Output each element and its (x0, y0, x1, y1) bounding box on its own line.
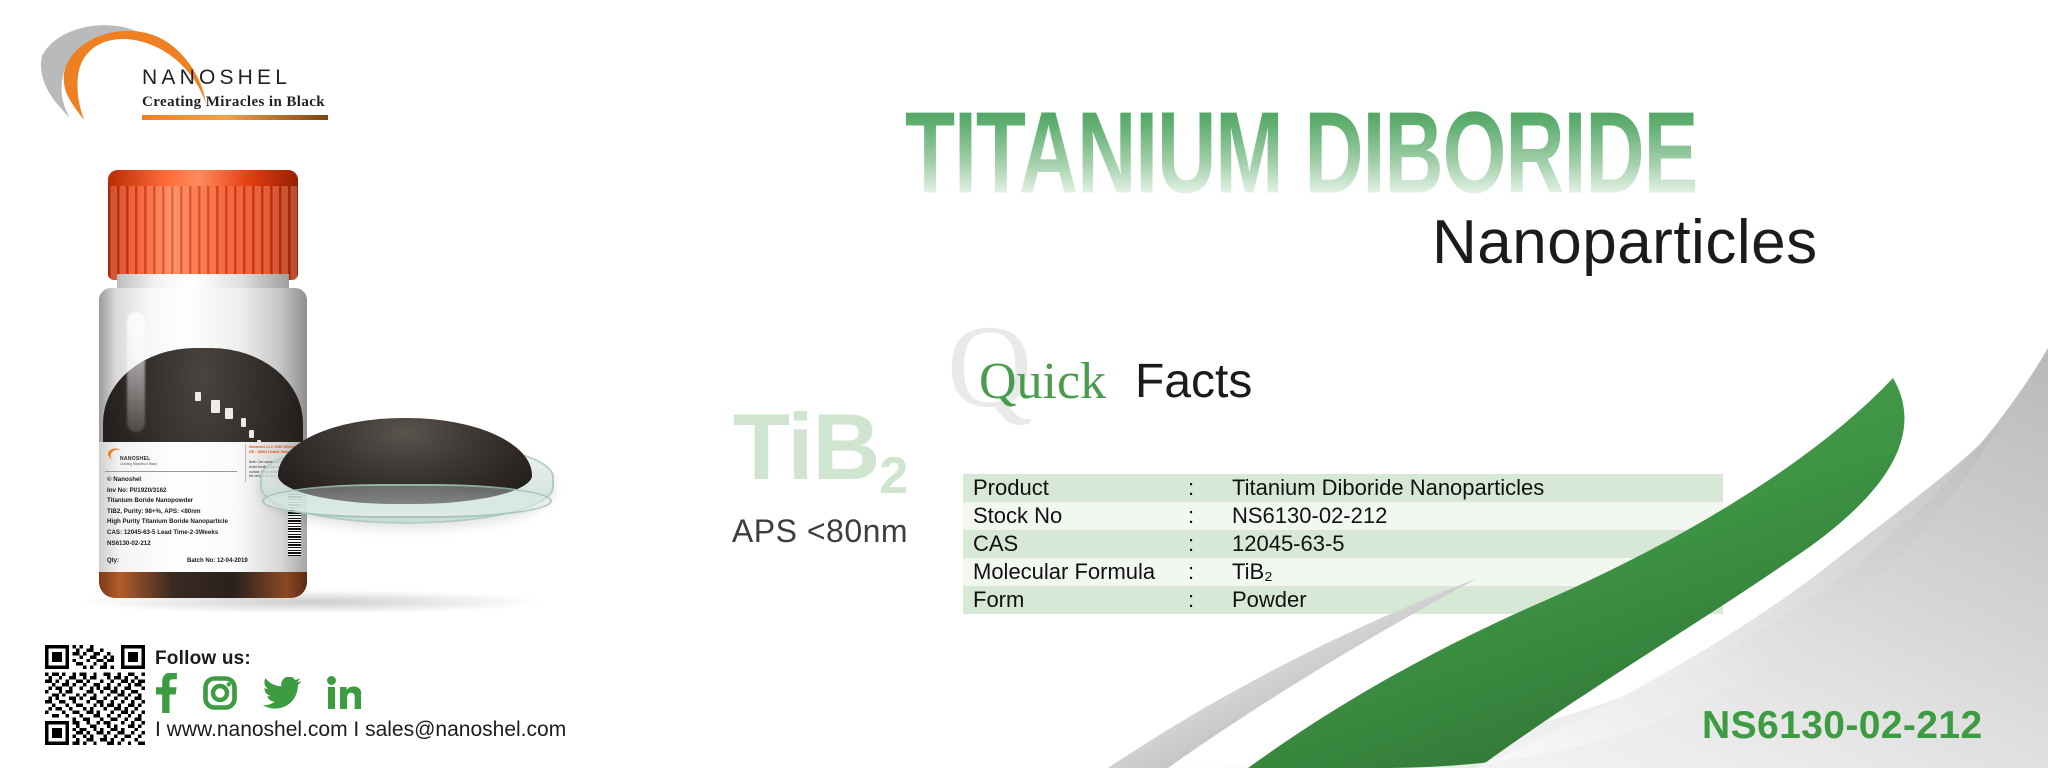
social-links (155, 672, 775, 714)
contact-line: I www.nanoshel.com I sales@nanoshel.com (155, 718, 775, 742)
label-text-lines: © Nanoshel Inv No: PI/1920/3162 Titanium… (107, 475, 257, 549)
label-line: Inv No: PI/1920/3162 (107, 486, 257, 497)
page-subtitle: Nanoparticles (1432, 212, 1818, 274)
bottle-base (99, 572, 307, 598)
logo-tagline: Creating Miracles in Black (142, 94, 325, 111)
nanoshel-logo[interactable]: NANOSHEL Creating Miracles in Black (34, 18, 309, 128)
label-line: TiB2, Purity: 98+%, APS: <80nm (107, 507, 257, 518)
label-logo-tagline: Creating Miracles in Black (120, 462, 157, 466)
label-line: Titanium Boride Nanopowder (107, 496, 257, 507)
formula-main: TiB (733, 394, 880, 499)
label-line: High Purity Titanium Boride Nanoparticle (107, 517, 257, 528)
label-swoosh-icon (107, 447, 121, 461)
page-title: TITANIUM DIBORIDE (905, 96, 1697, 212)
facebook-icon[interactable] (155, 673, 177, 713)
instagram-icon[interactable] (203, 676, 237, 710)
bottle-cap-top (108, 170, 298, 186)
stock-code-badge: NS6130-02-212 (1702, 706, 1983, 745)
banner-canvas: NANOSHEL Creating Miracles in Black (0, 0, 2048, 768)
petri-dish (260, 410, 550, 525)
bottle-cap (108, 170, 298, 280)
logo-wordmark: NANOSHEL (142, 66, 291, 90)
logo-underline (142, 115, 328, 120)
product-bottle: NANOSHEL Creating Miracles in Black Nano… (93, 170, 313, 600)
qr-code[interactable] (45, 645, 145, 745)
label-qty: Qty: (107, 558, 119, 564)
label-batch: Batch No: 12-04-2019 (187, 558, 248, 564)
aps-text: APS <80nm (690, 513, 950, 550)
formula-subscript: 2 (879, 447, 907, 505)
bottle-label-logo: NANOSHEL Creating Miracles in Black (107, 447, 163, 469)
footer: Follow us: I www.nanoshel.com I sales@na… (155, 648, 775, 742)
follow-us-label: Follow us: (155, 648, 775, 670)
label-line: NS6130-02-212 (107, 539, 257, 550)
twitter-icon[interactable] (263, 677, 301, 709)
petri-dish-rim (262, 484, 552, 518)
linkedin-icon[interactable] (327, 676, 361, 710)
product-photo: NANOSHEL Creating Miracles in Black Nano… (45, 160, 665, 660)
formula-block: TiB2 APS <80nm (690, 400, 950, 550)
label-line: CAS: 12045-63-5 Lead Time-2-3Weeks (107, 528, 257, 539)
label-rule (105, 471, 237, 472)
label-line: © Nanoshel (107, 475, 257, 486)
formula-text: TiB2 (690, 400, 950, 509)
